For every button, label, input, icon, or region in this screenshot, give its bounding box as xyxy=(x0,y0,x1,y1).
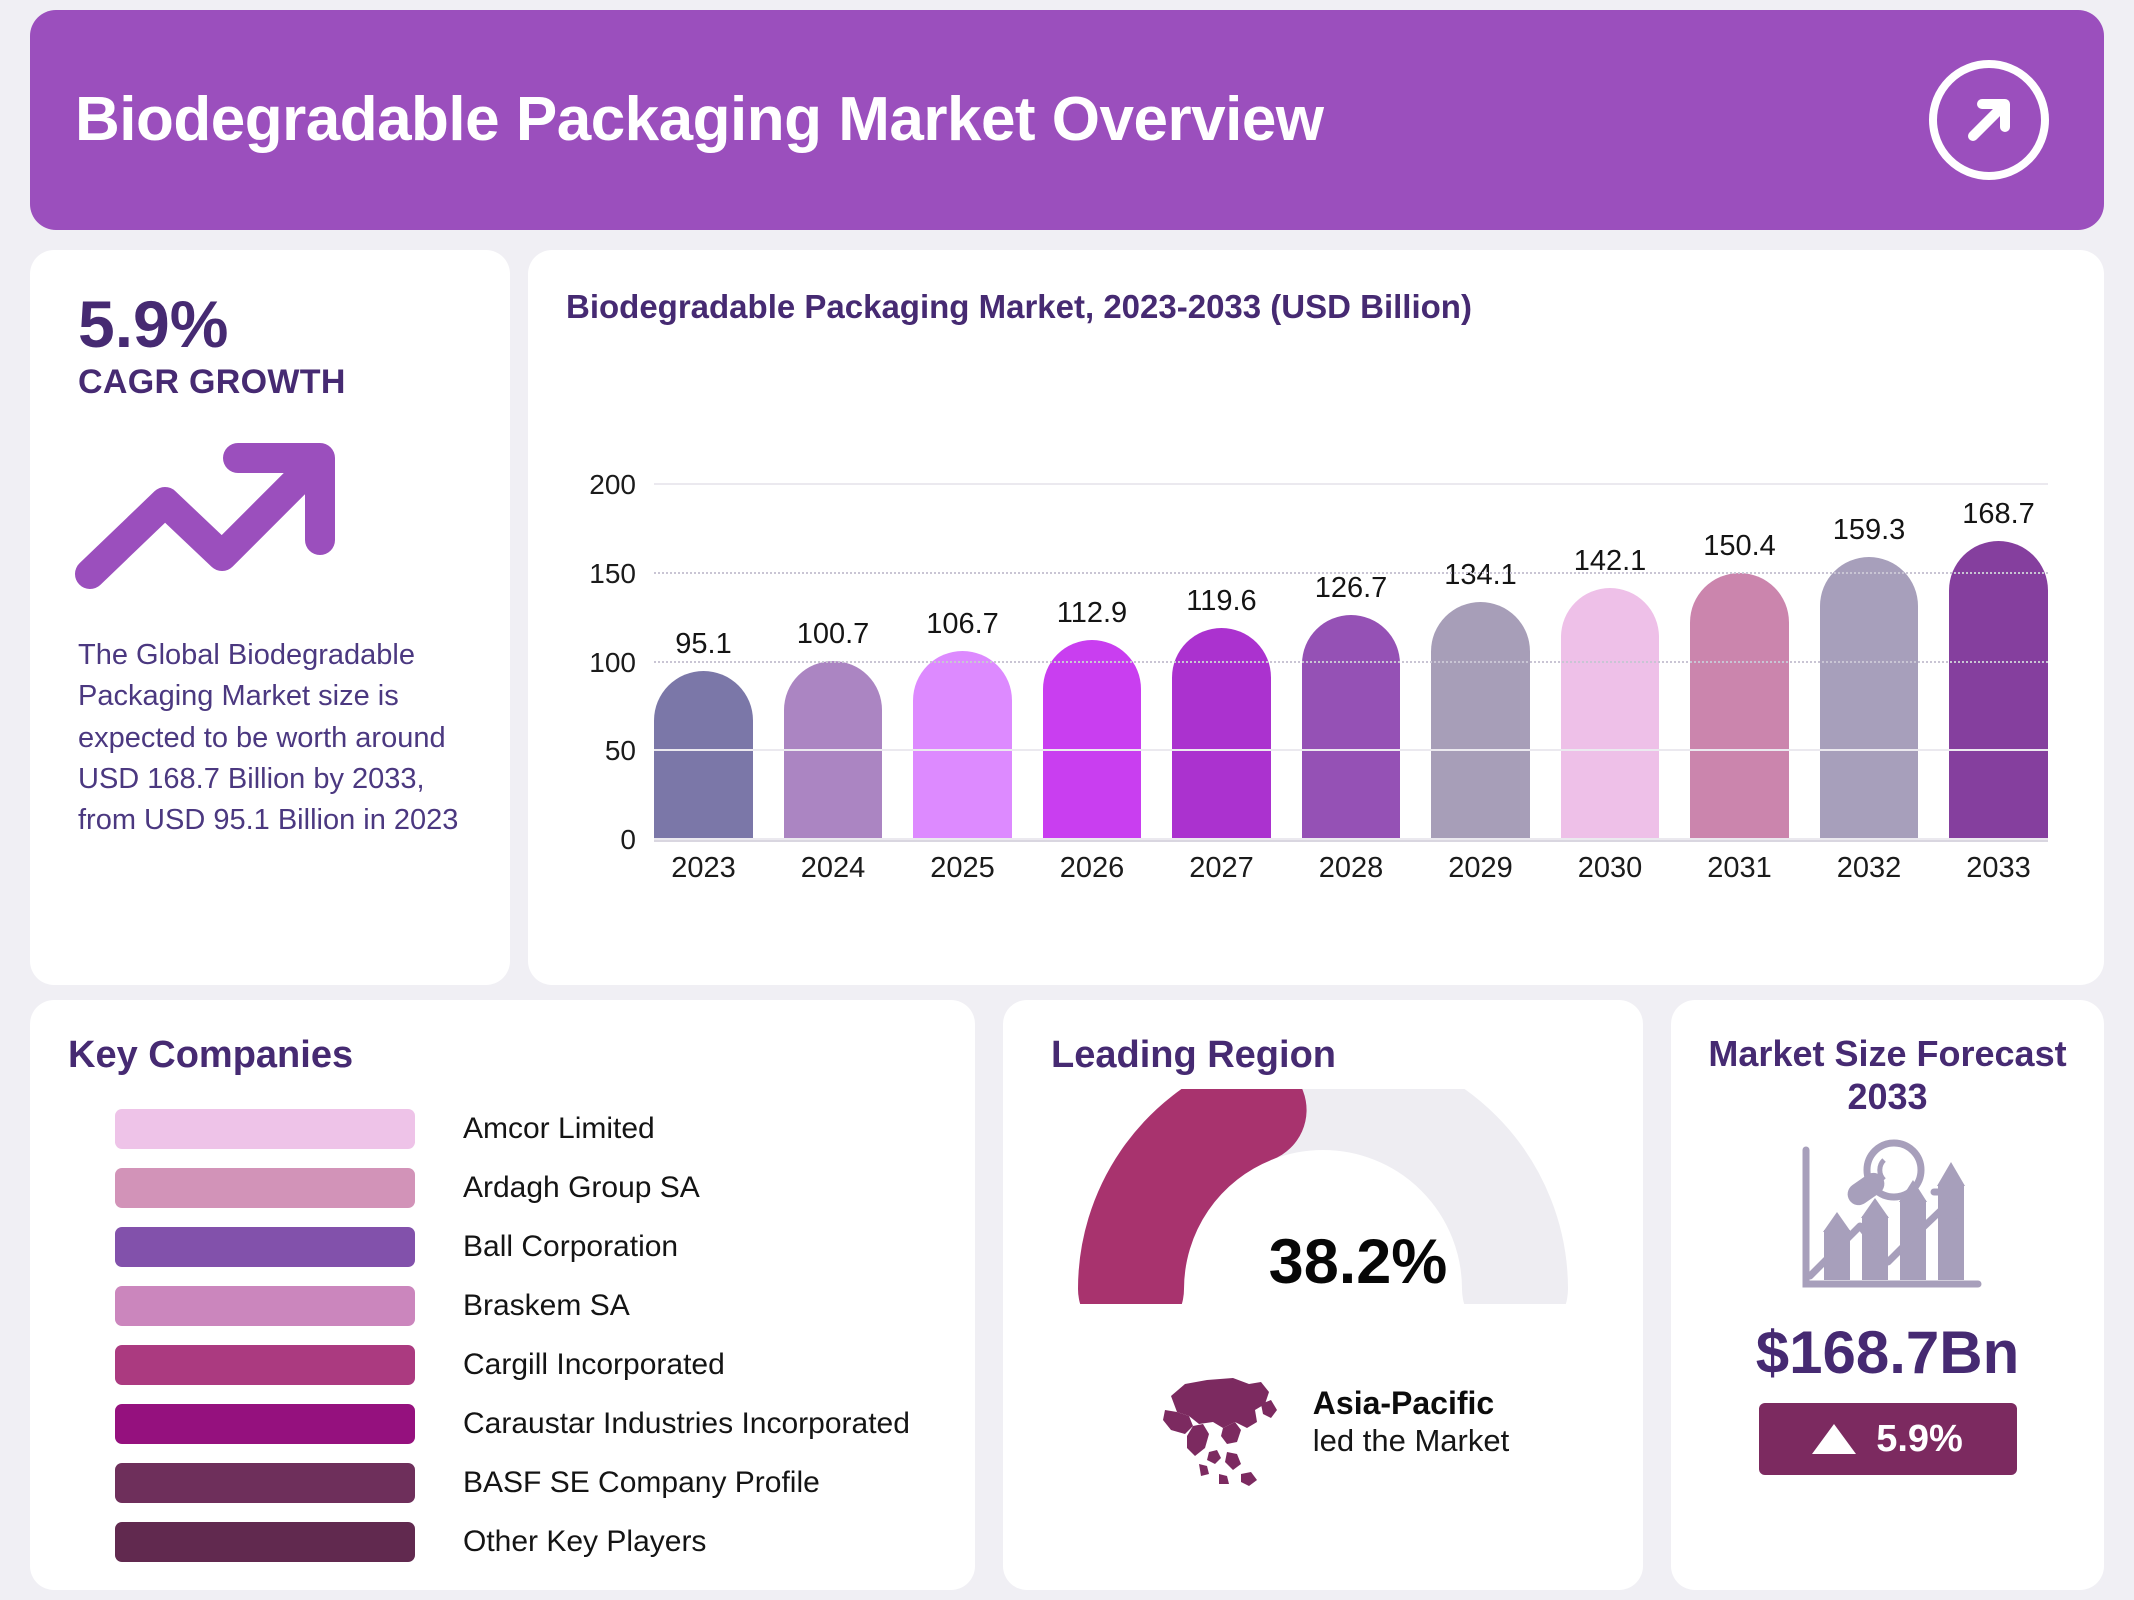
y-axis-tick: 200 xyxy=(589,469,636,501)
bar-slot[interactable]: 106.7 xyxy=(913,485,1012,840)
market-chart-card: Biodegradable Packaging Market, 2023-203… xyxy=(528,250,2104,985)
status-badge: 5.9% xyxy=(1759,1403,2017,1475)
bar[interactable] xyxy=(913,651,1012,840)
region-text: Asia-Pacific led the Market xyxy=(1313,1385,1509,1459)
region-subtitle: led the Market xyxy=(1313,1423,1509,1460)
company-name: Caraustar Industries Incorporated xyxy=(463,1407,910,1441)
list-item[interactable]: Caraustar Industries Incorporated xyxy=(30,1394,975,1453)
asia-pacific-map-icon xyxy=(1137,1352,1287,1492)
company-color-swatch xyxy=(115,1168,415,1208)
plot-area: 95.1100.7106.7112.9119.6126.7134.1142.11… xyxy=(654,485,2048,840)
triangle-up-icon xyxy=(1812,1424,1856,1454)
company-name: BASF SE Company Profile xyxy=(463,1466,820,1500)
bar-chart-plot: 95.1100.7106.7112.9119.6126.7134.1142.11… xyxy=(566,355,2066,945)
bar[interactable] xyxy=(1949,541,2048,840)
bar[interactable] xyxy=(1690,573,1789,840)
bar-slot[interactable]: 134.1 xyxy=(1431,485,1530,840)
bar-slot[interactable]: 126.7 xyxy=(1302,485,1401,840)
bar-value-label: 134.1 xyxy=(1444,559,1517,592)
x-axis-line xyxy=(654,840,2048,842)
bar-slot[interactable]: 159.3 xyxy=(1820,485,1919,840)
list-item[interactable]: Braskem SA xyxy=(30,1276,975,1335)
leading-region-title: Leading Region xyxy=(1051,1034,1643,1077)
page-title: Biodegradable Packaging Market Overview xyxy=(75,87,1324,152)
x-axis-tick: 2026 xyxy=(1043,852,1142,885)
gridline: 50 xyxy=(654,749,2048,751)
x-axis-tick: 2033 xyxy=(1949,852,2048,885)
list-item[interactable]: Ball Corporation xyxy=(30,1217,975,1276)
company-name: Cargill Incorporated xyxy=(463,1348,725,1382)
bar-value-label: 150.4 xyxy=(1703,530,1776,563)
arrow-up-right-icon[interactable] xyxy=(1929,60,2049,180)
badge-value: 5.9% xyxy=(1876,1418,1963,1461)
company-color-swatch xyxy=(115,1286,415,1326)
company-name: Ardagh Group SA xyxy=(463,1171,700,1205)
list-item[interactable]: Cargill Incorporated xyxy=(30,1335,975,1394)
growth-chart-magnifier-icon xyxy=(1671,1134,2104,1304)
region-summary: Asia-Pacific led the Market xyxy=(1003,1352,1643,1492)
y-axis-tick: 100 xyxy=(589,647,636,679)
company-color-swatch xyxy=(115,1522,415,1562)
key-companies-card: Key Companies Amcor LimitedArdagh Group … xyxy=(30,1000,975,1590)
bar[interactable] xyxy=(654,671,753,840)
bar-slot[interactable]: 100.7 xyxy=(784,485,883,840)
trend-up-arrow-icon xyxy=(70,424,510,599)
company-color-swatch xyxy=(115,1227,415,1267)
cagr-label: CAGR GROWTH xyxy=(78,363,510,402)
bar[interactable] xyxy=(1302,615,1401,840)
gridline: 100 xyxy=(654,661,2048,663)
bar-value-label: 119.6 xyxy=(1186,585,1256,618)
cagr-value: 5.9% xyxy=(78,290,510,359)
company-name: Braskem SA xyxy=(463,1289,630,1323)
bar-slot[interactable]: 119.6 xyxy=(1172,485,1271,840)
y-axis-tick: 0 xyxy=(620,824,636,856)
bar[interactable] xyxy=(1561,588,1660,840)
bar-slot[interactable]: 112.9 xyxy=(1043,485,1142,840)
list-item[interactable]: Other Key Players xyxy=(30,1512,975,1571)
company-name: Ball Corporation xyxy=(463,1230,678,1264)
company-color-swatch xyxy=(115,1345,415,1385)
company-name: Other Key Players xyxy=(463,1525,706,1559)
gridline: 150 xyxy=(654,572,2048,574)
bar-value-label: 95.1 xyxy=(675,628,731,661)
list-item[interactable]: BASF SE Company Profile xyxy=(30,1453,975,1512)
leading-region-card: Leading Region 38.2% xyxy=(1003,1000,1643,1590)
x-axis-tick: 2031 xyxy=(1690,852,1789,885)
list-item[interactable]: Ardagh Group SA xyxy=(30,1158,975,1217)
x-axis-tick: 2028 xyxy=(1302,852,1401,885)
gridline: 200 xyxy=(654,483,2048,485)
company-color-swatch xyxy=(115,1404,415,1444)
x-axis-tick: 2027 xyxy=(1172,852,1271,885)
bar[interactable] xyxy=(1043,640,1142,840)
forecast-title: Market Size Forecast 2033 xyxy=(1708,1032,2068,1118)
bar-slot[interactable]: 150.4 xyxy=(1690,485,1789,840)
region-percent: 38.2% xyxy=(1073,1226,1573,1298)
bar[interactable] xyxy=(1431,602,1530,840)
bar-value-label: 100.7 xyxy=(797,618,870,651)
x-axis-tick: 2023 xyxy=(654,852,753,885)
company-color-swatch xyxy=(115,1463,415,1503)
cagr-description: The Global Biodegradable Packaging Marke… xyxy=(78,635,468,841)
x-axis-tick: 2029 xyxy=(1431,852,1530,885)
bar-slot[interactable]: 168.7 xyxy=(1949,485,2048,840)
bar-series: 95.1100.7106.7112.9119.6126.7134.1142.11… xyxy=(654,485,2048,840)
bar-value-label: 126.7 xyxy=(1315,572,1388,605)
bar-slot[interactable]: 95.1 xyxy=(654,485,753,840)
region-gauge: 38.2% xyxy=(1073,1089,1573,1304)
cagr-card: 5.9% CAGR GROWTH The Global Biodegradabl… xyxy=(30,250,510,985)
y-axis-tick: 50 xyxy=(605,735,636,767)
y-axis-tick: 150 xyxy=(589,558,636,590)
x-axis-labels: 2023202420252026202720282029203020312032… xyxy=(654,852,2048,885)
infographic-page: Biodegradable Packaging Market Overview … xyxy=(0,0,2134,1600)
x-axis-tick: 2024 xyxy=(784,852,883,885)
x-axis-tick: 2032 xyxy=(1820,852,1919,885)
x-axis-tick: 2025 xyxy=(913,852,1012,885)
bar-value-label: 159.3 xyxy=(1833,514,1906,547)
bar-value-label: 168.7 xyxy=(1962,498,2035,531)
bar-slot[interactable]: 142.1 xyxy=(1561,485,1660,840)
chart-title: Biodegradable Packaging Market, 2023-203… xyxy=(566,288,2104,326)
company-name: Amcor Limited xyxy=(463,1112,655,1146)
x-axis-tick: 2030 xyxy=(1561,852,1660,885)
bar-value-label: 106.7 xyxy=(926,608,999,641)
bar-value-label: 112.9 xyxy=(1057,597,1127,630)
header-banner: Biodegradable Packaging Market Overview xyxy=(30,10,2104,230)
forecast-value: $168.7Bn xyxy=(1671,1318,2104,1387)
region-name: Asia-Pacific xyxy=(1313,1385,1509,1423)
key-companies-list: Amcor LimitedArdagh Group SABall Corpora… xyxy=(30,1099,975,1571)
bar[interactable] xyxy=(1820,557,1919,840)
company-color-swatch xyxy=(115,1109,415,1149)
market-size-forecast-card: Market Size Forecast 2033 xyxy=(1671,1000,2104,1590)
list-item[interactable]: Amcor Limited xyxy=(30,1099,975,1158)
key-companies-title: Key Companies xyxy=(68,1034,975,1077)
